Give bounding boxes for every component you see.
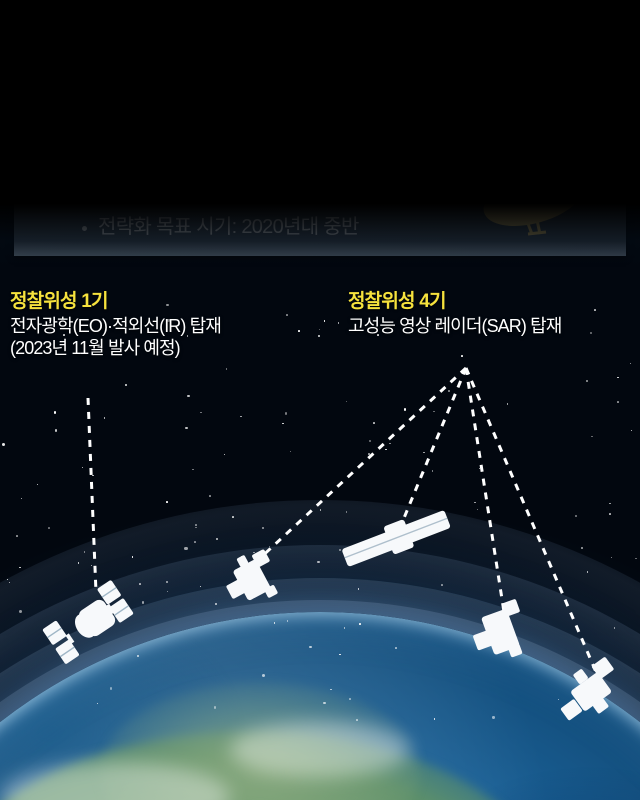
caption-left-line2: (2023년 11월 발사 예정) xyxy=(10,337,221,359)
beam-eo-ir xyxy=(88,398,96,592)
caption-eo-ir: 정찰위성 1기 전자광학(EO)·적외선(IR) 탑재 (2023년 11월 발… xyxy=(10,286,221,360)
beam-sar-3 xyxy=(466,368,504,612)
satellite-eo-ir xyxy=(40,580,136,665)
infographic-root: 군 정찰위성 '425사업' 개요 방위사업청·국방과학연구소(ADD) 주도 … xyxy=(0,0,640,800)
satellite-sar-1 xyxy=(217,545,286,613)
satellite-sar-4 xyxy=(548,653,630,730)
caption-right-line1: 고성능 영상 레이더(SAR) 탑재 xyxy=(348,315,561,337)
top-gradient-mask xyxy=(0,0,640,268)
beam-sar-2 xyxy=(404,368,466,518)
caption-left-heading: 정찰위성 1기 xyxy=(10,286,221,313)
caption-left-line1: 전자광학(EO)·적외선(IR) 탑재 xyxy=(10,315,221,337)
satellite-sar-3 xyxy=(466,599,534,668)
signal-beams xyxy=(88,368,596,672)
caption-right-heading: 정찰위성 4기 xyxy=(348,286,561,313)
satellite-sar-2 xyxy=(339,504,452,571)
caption-sar: 정찰위성 4기 고성능 영상 레이더(SAR) 탑재 xyxy=(348,286,561,337)
